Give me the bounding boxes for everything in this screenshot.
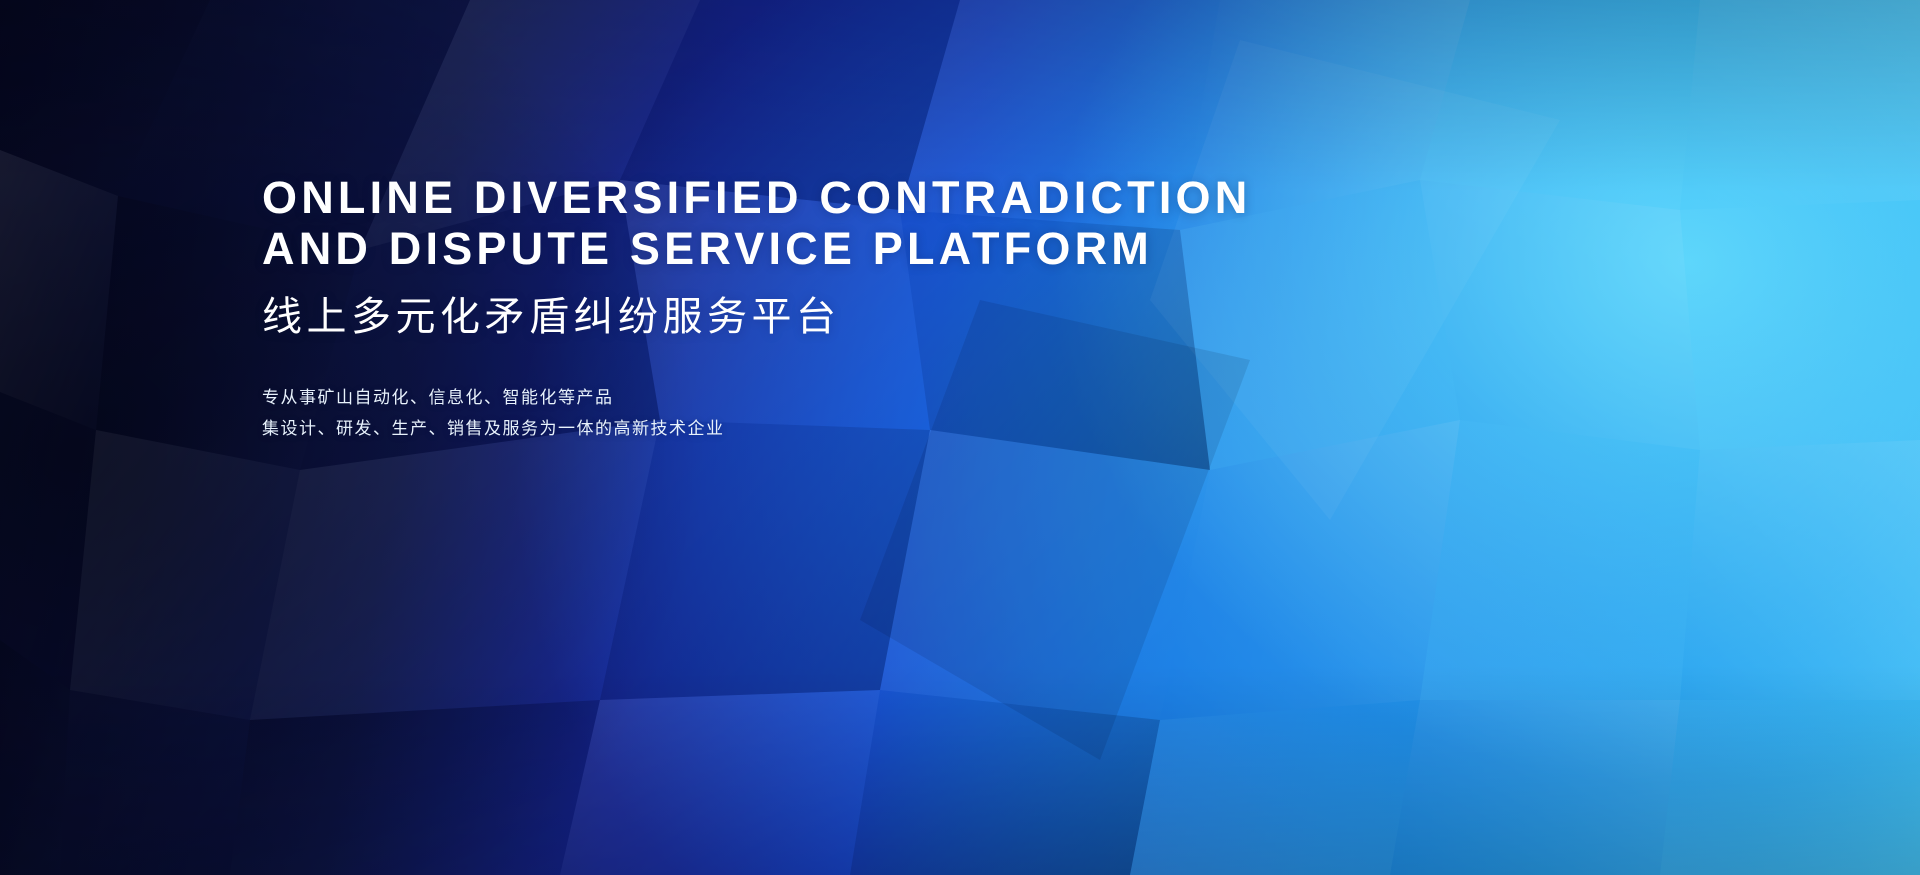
hero-banner: ONLINE DIVERSIFIED CONTRADICTION AND DIS…: [0, 0, 1920, 875]
banner-subtitle-list: 专从事矿山自动化、信息化、智能化等产品 集设计、研发、生产、销售及服务为一体的高…: [262, 382, 1442, 444]
banner-title-chinese: 线上多元化矛盾纠纷服务平台: [262, 293, 1442, 341]
banner-content: ONLINE DIVERSIFIED CONTRADICTION AND DIS…: [262, 172, 1442, 444]
banner-title-english-line-1: ONLINE DIVERSIFIED CONTRADICTION: [262, 172, 1442, 223]
banner-title-english: ONLINE DIVERSIFIED CONTRADICTION AND DIS…: [262, 172, 1442, 274]
banner-subtitle-line-1: 专从事矿山自动化、信息化、智能化等产品: [262, 382, 1442, 413]
banner-subtitle-line-2: 集设计、研发、生产、销售及服务为一体的高新技术企业: [262, 413, 1442, 444]
banner-title-english-line-2: AND DISPUTE SERVICE PLATFORM: [262, 223, 1442, 274]
